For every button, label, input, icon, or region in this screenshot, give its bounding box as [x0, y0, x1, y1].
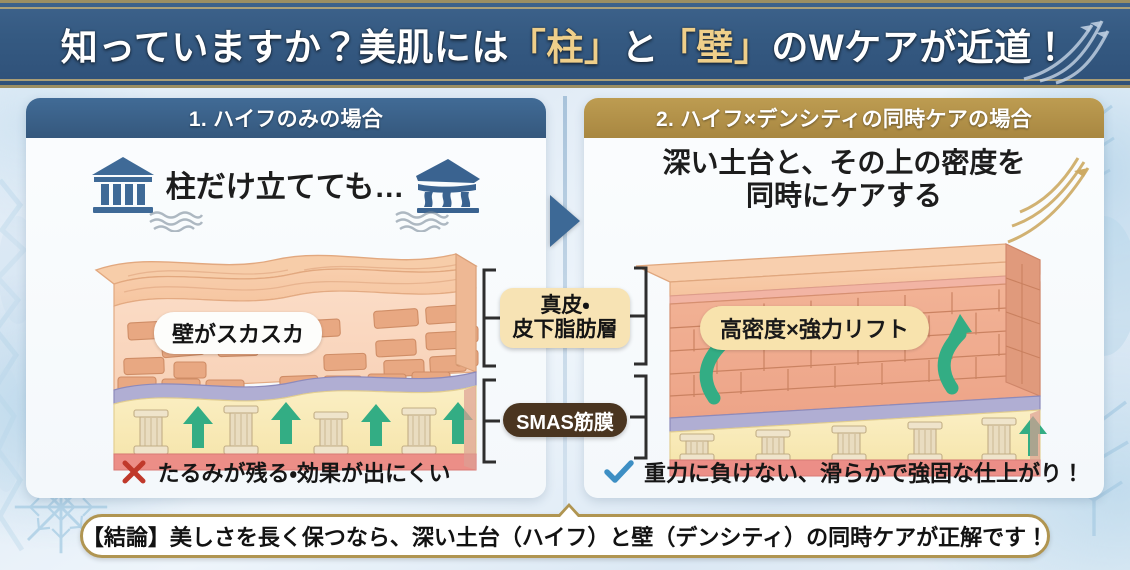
panel-right-result-text: 重力に負けない、滑らかで強固な仕上がり！: [644, 456, 1084, 488]
arrow-right-icon: [550, 195, 580, 247]
temple-collapsed-icon: [414, 153, 482, 215]
layer-bracket-left-dermis: [480, 268, 500, 368]
layer-bracket-right-dermis: [630, 266, 650, 366]
panel-hifu-density: 2. ハイフ×デンシティの同時ケアの場合 深い土台と、その上の密度を 同時にケア…: [584, 98, 1104, 498]
page-title-part-2: と: [621, 27, 659, 68]
page-header-band: 知っていますか？美肌には「柱」と「壁」のWケアが近道！: [0, 0, 1130, 88]
temple-intact-icon: [90, 153, 156, 215]
panel-right-header: 2. ハイフ×デンシティの同時ケアの場合: [584, 98, 1104, 138]
cross-icon: [121, 459, 147, 485]
conclusion-banner: 【結論】美しさを長く保つなら、深い土台（ハイフ）と壁（デンシティ）の同時ケアが正…: [80, 514, 1050, 558]
layer-bracket-left-smas: [480, 378, 500, 464]
panel-right-body: 深い土台と、その上の密度を 同時にケアする: [584, 138, 1104, 498]
layer-label-dermis-line1: 真皮・: [540, 294, 589, 318]
panel-left-headline: 柱だけ立てても…: [166, 162, 405, 206]
panel-left-result-text: たるみが残る・効果が出にくい: [157, 456, 450, 488]
panel-left-result: たるみが残る・効果が出にくい: [26, 456, 546, 488]
panel-hifu-only: 1. ハイフのみの場合 柱だけ立てても…: [26, 98, 546, 498]
panel-left-headline-row: 柱だけ立てても…: [26, 138, 546, 218]
page-title: 知っていますか？美肌には「柱」と「壁」のWケアが近道！: [61, 17, 1070, 71]
page-title-gold-hashira: 「柱」: [509, 27, 622, 68]
layer-label-dermis: 真皮・ 皮下脂肪層: [500, 288, 630, 348]
gold-swoosh-icon: [1006, 152, 1098, 248]
layer-label-smas: SMAS筋膜: [503, 403, 627, 437]
panel-right-result: 重力に負けない、滑らかで強固な仕上がり！: [584, 456, 1104, 488]
layer-label-dermis-line2: 皮下脂肪層: [513, 318, 618, 342]
wobble-lines-icon: [148, 210, 204, 232]
layer-bracket-right-smas: [630, 374, 650, 460]
skin-cross-section-dense: [622, 238, 1052, 478]
conclusion-pointer: [556, 503, 582, 517]
skin-cross-section-sparse: [84, 240, 488, 476]
sparse-wall-callout: 壁がスカスカ: [154, 312, 322, 354]
page-title-gold-kabe: 「壁」: [659, 27, 772, 68]
page-title-part-1: 知っていますか？美肌には: [61, 27, 509, 68]
page-title-part-3: のWケアが近道！: [771, 27, 1069, 68]
panel-left-body: 柱だけ立てても…: [26, 138, 546, 498]
wobble-lines-icon: [394, 210, 450, 232]
high-density-callout: 高密度×強力リフト: [700, 306, 929, 350]
check-icon: [604, 459, 634, 485]
panel-left-header: 1. ハイフのみの場合: [26, 98, 546, 138]
